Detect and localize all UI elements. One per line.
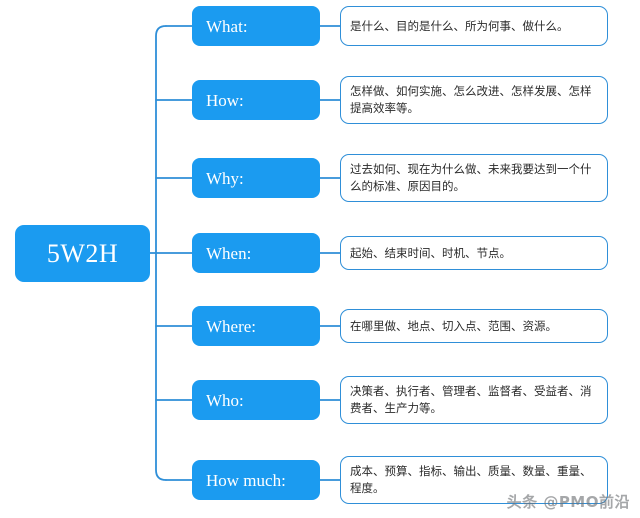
branch-label-when[interactable]: When: <box>192 233 320 273</box>
root-node[interactable]: 5W2H <box>15 225 150 282</box>
branch-label-text: Where: <box>206 318 256 335</box>
branch-label-text: How: <box>206 92 244 109</box>
branch-label-who[interactable]: Who: <box>192 380 320 420</box>
branch-label-text: Why: <box>206 170 244 187</box>
branch-label-where[interactable]: Where: <box>192 306 320 346</box>
branch-description-text: 在哪里做、地点、切入点、范围、资源。 <box>350 318 557 335</box>
branch-description-why[interactable]: 过去如何、现在为什么做、未来我要达到一个什么的标准、原因目的。 <box>340 154 608 202</box>
branch-label-how-much[interactable]: How much: <box>192 460 320 500</box>
branch-description-where[interactable]: 在哪里做、地点、切入点、范围、资源。 <box>340 309 608 343</box>
watermark: 头条 @PMO前沿 <box>507 491 630 512</box>
branch-description-text: 怎样做、如何实施、怎么改进、怎样发展、怎样提高效率等。 <box>350 83 598 116</box>
branch-label-text: What: <box>206 18 248 35</box>
branch-description-what[interactable]: 是什么、目的是什么、所为何事、做什么。 <box>340 6 608 46</box>
branch-label-how[interactable]: How: <box>192 80 320 120</box>
mindmap-canvas: 5W2H What: 是什么、目的是什么、所为何事、做什么。 How: 怎样做、… <box>0 0 640 518</box>
branch-label-text: Who: <box>206 392 244 409</box>
branch-description-when[interactable]: 起始、结束时间、时机、节点。 <box>340 236 608 270</box>
branch-description-text: 是什么、目的是什么、所为何事、做什么。 <box>350 18 569 35</box>
root-node-label: 5W2H <box>47 241 118 267</box>
branch-description-who[interactable]: 决策者、执行者、管理者、监督者、受益者、消费者、生产力等。 <box>340 376 608 424</box>
branch-description-how[interactable]: 怎样做、如何实施、怎么改进、怎样发展、怎样提高效率等。 <box>340 76 608 124</box>
branch-description-text: 决策者、执行者、管理者、监督者、受益者、消费者、生产力等。 <box>350 383 598 416</box>
branch-description-text: 过去如何、现在为什么做、未来我要达到一个什么的标准、原因目的。 <box>350 161 598 194</box>
branch-description-text: 起始、结束时间、时机、节点。 <box>350 245 511 262</box>
branch-label-what[interactable]: What: <box>192 6 320 46</box>
branch-label-why[interactable]: Why: <box>192 158 320 198</box>
branch-label-text: When: <box>206 245 251 262</box>
branch-label-text: How much: <box>206 472 286 489</box>
